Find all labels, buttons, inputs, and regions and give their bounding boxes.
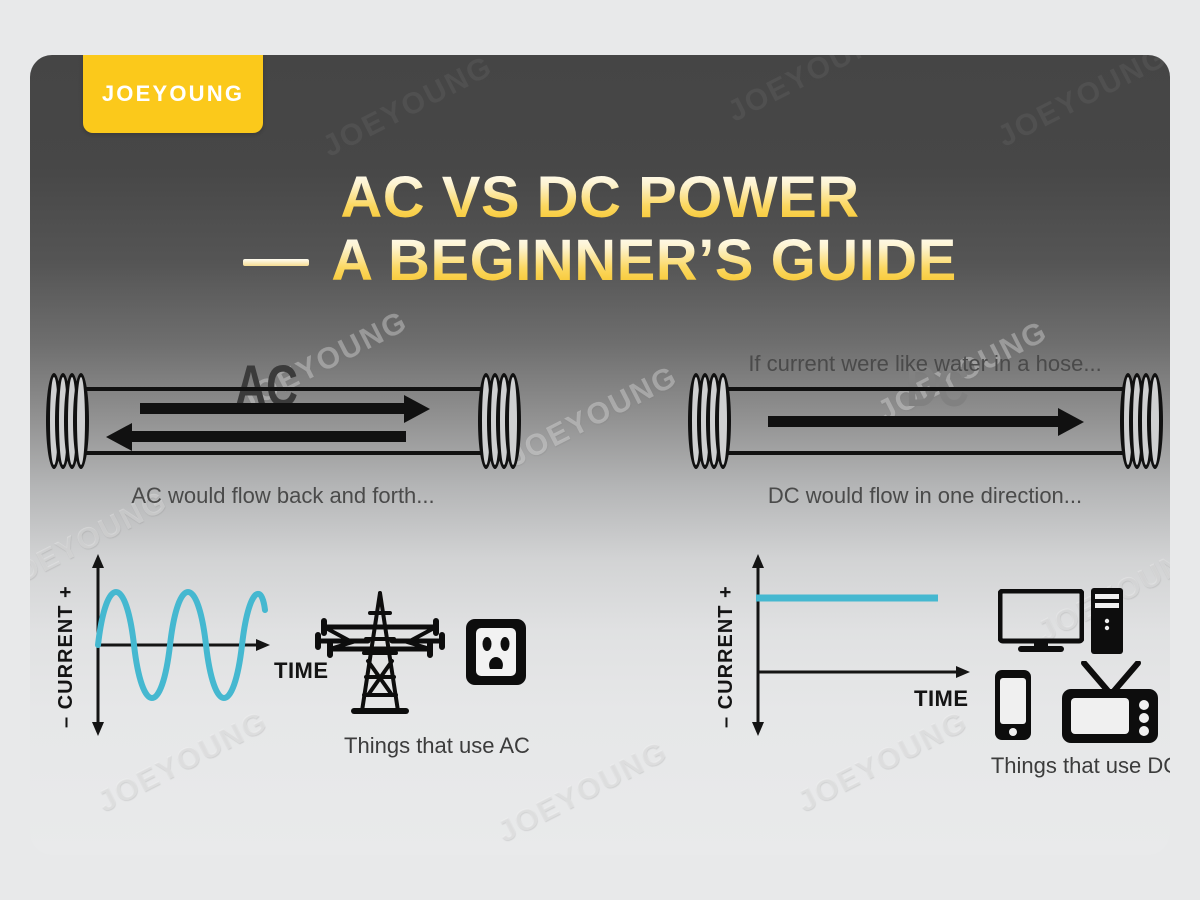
hose-caption-ac: AC would flow back and forth... — [38, 483, 528, 509]
watermark: JOEYOUNG — [502, 360, 683, 475]
dc-icon-caption: Things that use DC — [960, 753, 1170, 779]
infographic-card: JOEYOUNG JOEYOUNG JOEYOUNG JOEYOUNG JOEY… — [30, 55, 1170, 855]
ac-icon-caption: Things that use AC — [292, 733, 582, 759]
watermark: JOEYOUNG — [992, 55, 1170, 154]
pc-tower-icon — [1090, 587, 1124, 655]
wall-outlet-icon — [464, 617, 528, 687]
hose-caption-dc: DC would flow in one direction... — [680, 483, 1170, 509]
infographic-canvas: JOEYOUNG JOEYOUNG JOEYOUNG JOEYOUNG JOEY… — [0, 0, 1200, 900]
transmission-tower-icon — [310, 587, 450, 717]
dc-icon-group: Things that use DC — [960, 565, 1170, 755]
watermark: JOEYOUNG — [722, 55, 903, 129]
hose-cap-right — [1120, 373, 1162, 469]
hose-cap-left — [688, 373, 730, 469]
title-line-1: AC VS DC POWER — [30, 167, 1170, 230]
smartphone-icon — [994, 669, 1032, 741]
hose-diagram-dc: If current were like water in a hose... … — [680, 373, 1170, 523]
hose-diagram-ac: AC would flow back and forth... — [38, 373, 528, 523]
chart-ac-plot — [30, 550, 320, 740]
title-block: AC VS DC POWER A BEGINNER’S GUIDE — [30, 167, 1170, 292]
title-line-2-wrap: A BEGINNER’S GUIDE — [30, 230, 1170, 293]
hose-caption-shared: If current were like water in a hose... — [680, 351, 1170, 377]
ac-icon-group: Things that use AC — [292, 575, 582, 755]
title-dash-icon — [243, 259, 309, 266]
chart-ac: – CURRENT + TIME — [30, 550, 320, 740]
computer-monitor-icon — [998, 589, 1084, 653]
television-icon — [1058, 661, 1162, 745]
hose-cap-right — [478, 373, 520, 469]
watermark: JOEYOUNG — [317, 55, 498, 164]
brand-logo-badge: JOEYOUNG — [83, 55, 263, 133]
hose-cap-left — [46, 373, 88, 469]
title-line-2: A BEGINNER’S GUIDE — [331, 230, 957, 293]
brand-logo-text: JOEYOUNG — [102, 81, 244, 107]
chart-dc: – CURRENT + TIME — [690, 550, 990, 740]
